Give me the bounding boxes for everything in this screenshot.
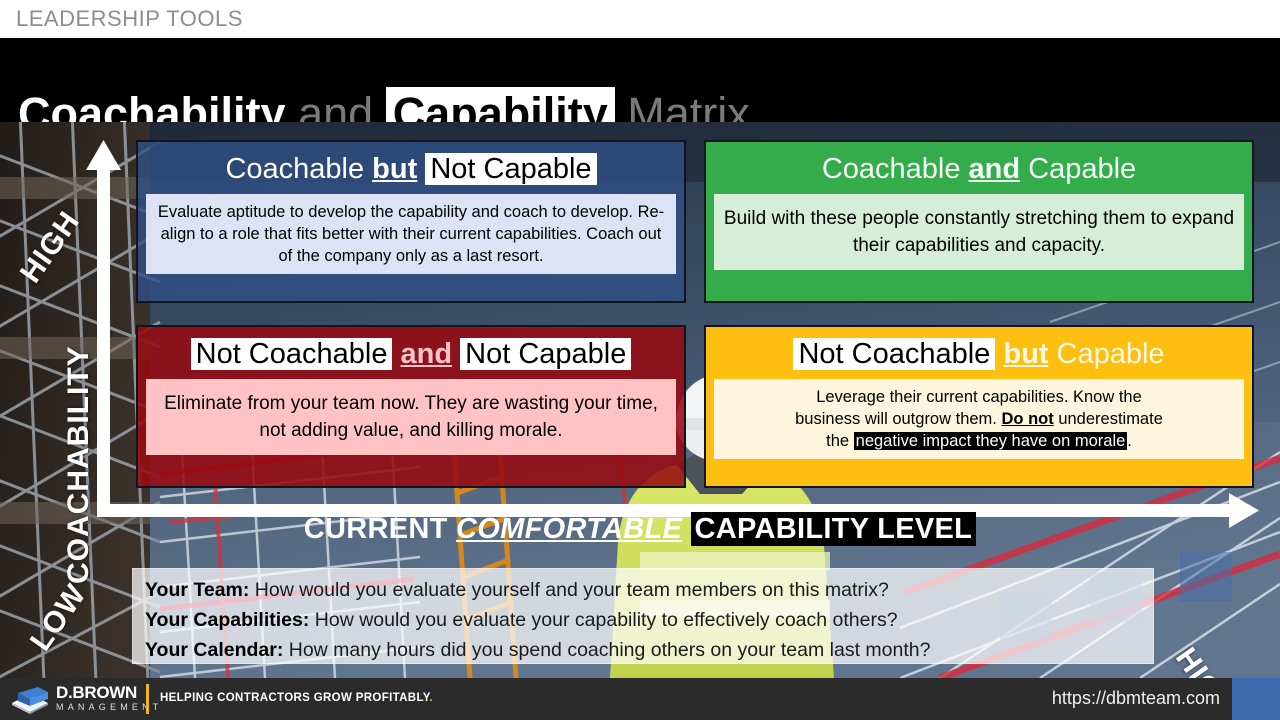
question-label-2: Your Calendar: [145, 639, 283, 661]
quadrant-tr-body: Build with these people constantly stret… [714, 194, 1244, 270]
quadrant-bl-head-2: and [401, 338, 453, 370]
title-bar: Coachability and Capability Matrix [0, 38, 1280, 122]
footer-tagline-text: HELPING CONTRACTORS GROW PROFITABLY [160, 692, 430, 704]
x-caption-capability-level: CAPABILITY LEVEL [691, 512, 977, 546]
quadrant-not-coachable-not-capable[interactable]: Not Coachable and Not Capable Eliminate … [136, 325, 686, 488]
question-text-0: How would you evaluate yourself and your… [255, 579, 889, 601]
quadrant-br-head-1: Not Coachable [793, 338, 995, 370]
quadrant-br-body-line3c: . [1127, 432, 1132, 450]
quadrant-tl-head-1: Coachable [225, 153, 364, 185]
quadrant-br-body: Leverage their current capabilities. Kno… [714, 379, 1244, 459]
quadrant-tr-head-2: and [969, 153, 1021, 185]
dbrown-logo-icon [8, 683, 52, 715]
x-caption-current: CURRENT [304, 513, 448, 545]
question-row: Your Capabilities: How would you evaluat… [145, 605, 1141, 635]
quadrant-tl-heading: Coachable but Not Capable [138, 142, 684, 190]
question-row: Your Team: How would you evaluate yourse… [145, 575, 1141, 605]
question-label-0: Your Team: [145, 579, 249, 601]
question-row: Your Calendar: How many hours did you sp… [145, 635, 1141, 665]
question-text-2: How many hours did you spend coaching ot… [289, 639, 931, 661]
quadrant-br-body-highlight: negative impact they have on morale [854, 432, 1128, 450]
footer-tagline-dot: . [430, 692, 434, 704]
quadrant-bl-head-3: Not Capable [460, 338, 631, 370]
quadrant-br-heading: Not Coachable but Capable [706, 327, 1252, 375]
footer-website[interactable]: https://dbmteam.com [1052, 688, 1220, 709]
footer-tagline: HELPING CONTRACTORS GROW PROFITABLY. [160, 692, 433, 704]
quadrant-br-body-line1: Leverage their current capabilities. Kno… [816, 388, 1142, 406]
quadrant-br-body-line2c: underestimate [1058, 410, 1163, 428]
footer-divider [146, 684, 149, 714]
quadrant-br-body-emphasis: Do not [1001, 410, 1053, 428]
quadrant-bl-body: Eliminate from your team now. They are w… [146, 379, 676, 455]
footer-bar: D.BROWN MANAGEMENT HELPING CONTRACTORS G… [0, 678, 1280, 720]
reflection-questions-box: Your Team: How would you evaluate yourse… [132, 568, 1154, 664]
quadrant-bl-heading: Not Coachable and Not Capable [138, 327, 684, 375]
x-caption-comfortable: COMFORTABLE [456, 513, 682, 545]
quadrant-not-coachable-but-capable[interactable]: Not Coachable but Capable Leverage their… [704, 325, 1254, 488]
question-label-1: Your Capabilities: [145, 609, 309, 631]
quadrant-tr-head-3: Capable [1028, 153, 1136, 185]
eyebrow-bar: LEADERSHIP TOOLS [0, 0, 1280, 38]
quadrant-br-body-line3a: the [826, 432, 849, 450]
eyebrow-label: LEADERSHIP TOOLS [16, 6, 243, 32]
quadrant-tr-heading: Coachable and Capable [706, 142, 1252, 190]
quadrant-tl-head-2: but [372, 153, 417, 185]
quadrant-tl-head-3: Not Capable [425, 153, 596, 185]
question-text-1: How would you evaluate your capability t… [315, 609, 898, 631]
quadrant-coachable-and-capable[interactable]: Coachable and Capable Build with these p… [704, 140, 1254, 303]
quadrant-bl-head-1: Not Coachable [191, 338, 393, 370]
quadrant-br-body-line2a: business will outgrow them. [795, 410, 997, 428]
slide-root: LEADERSHIP TOOLS Coachability and Capabi… [0, 0, 1280, 720]
quadrant-br-head-2: but [1003, 338, 1048, 370]
quadrant-coachable-not-capable[interactable]: Coachable but Not Capable Evaluate aptit… [136, 140, 686, 303]
x-axis-caption: CURRENT COMFORTABLE CAPABILITY LEVEL [0, 513, 1280, 546]
quadrant-br-head-3: Capable [1057, 338, 1165, 370]
quadrant-tl-body: Evaluate aptitude to develop the capabil… [146, 194, 676, 274]
quadrant-tr-head-1: Coachable [822, 153, 961, 185]
footer-accent-block [1232, 678, 1280, 720]
